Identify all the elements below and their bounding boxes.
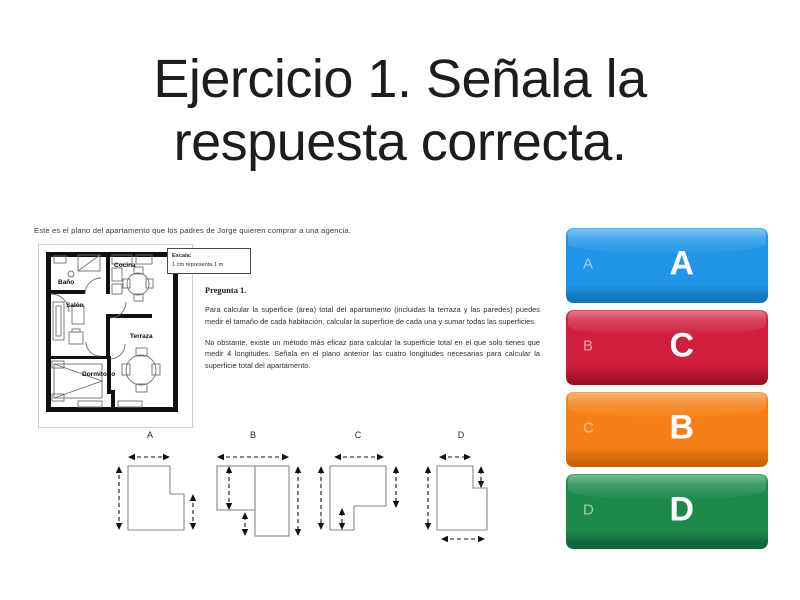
- answer-b-index: B: [583, 337, 593, 354]
- answer-button-c[interactable]: C B: [566, 392, 768, 467]
- answer-b-face: B C: [566, 310, 768, 381]
- worksheet-caption: Este es el plano del apartamento que los…: [34, 226, 539, 235]
- answer-button-d[interactable]: D D: [566, 474, 768, 549]
- answer-d-face: D D: [566, 474, 768, 545]
- answer-c-face: C B: [566, 392, 768, 463]
- option-figure-a-label: A: [100, 430, 200, 440]
- answer-d-index: D: [583, 501, 594, 518]
- room-label-cocina: Cocina: [114, 262, 136, 269]
- option-figure-c: C: [308, 430, 408, 546]
- answer-d-label: D: [606, 490, 758, 529]
- answer-b-label: C: [606, 326, 758, 365]
- question-paragraph-1: Para calcular la superficie (área) total…: [205, 304, 540, 328]
- answer-options-list: A A B C C B D D: [566, 228, 768, 556]
- option-figures: A: [100, 430, 540, 546]
- answer-c-label: B: [606, 408, 758, 447]
- scale-label: Escala:: [172, 252, 246, 261]
- worksheet-image: Este es el plano del apartamento que los…: [30, 226, 545, 546]
- quiz-slide: Ejercicio 1. Señala la respuesta correct…: [0, 0, 800, 600]
- option-figure-b: B: [203, 430, 303, 546]
- option-figure-c-label: C: [308, 430, 408, 440]
- question-paragraph-2: No obstante, existe un método más eficaz…: [205, 337, 540, 372]
- answer-button-a[interactable]: A A: [566, 228, 768, 303]
- option-figure-d-label: D: [411, 430, 511, 440]
- answer-a-label: A: [606, 244, 758, 283]
- option-figure-a: A: [100, 430, 200, 546]
- question-block: Pregunta 1. Para calcular la superficie …: [205, 286, 540, 381]
- scale-legend: Escala: 1 cm representa 1 m: [167, 248, 251, 274]
- room-label-bano: Baño: [58, 279, 74, 286]
- room-label-dormitorio: Dormitorio: [82, 371, 115, 378]
- answer-button-b[interactable]: B C: [566, 310, 768, 385]
- answer-a-face: A A: [566, 228, 768, 299]
- page-title: Ejercicio 1. Señala la respuesta correct…: [60, 48, 740, 173]
- question-heading: Pregunta 1.: [205, 286, 540, 295]
- answer-a-index: A: [583, 255, 593, 272]
- room-label-terraza: Terraza: [130, 333, 153, 340]
- answer-c-index: C: [583, 419, 594, 436]
- option-figure-b-label: B: [203, 430, 303, 440]
- scale-value: 1 cm representa 1 m: [172, 261, 246, 270]
- option-figure-d: D: [411, 430, 511, 546]
- room-label-salon: Salón: [66, 302, 84, 309]
